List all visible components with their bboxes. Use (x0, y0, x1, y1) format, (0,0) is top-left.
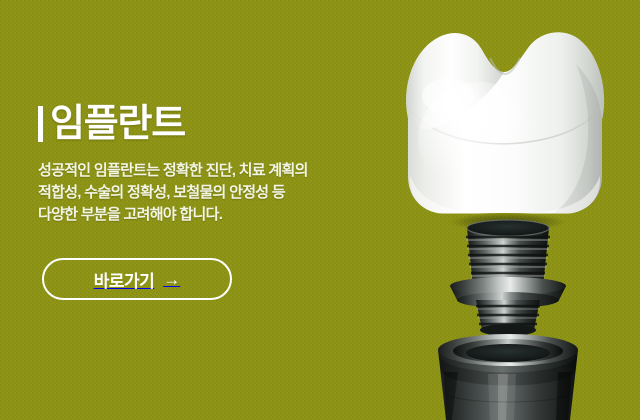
banner-copy: 임플란트 성공적인 임플란트는 정확한 진단, 치료 계획의 적합성, 수술의 … (38, 100, 368, 226)
description-line-2: 적합성, 수술의 정확성, 보철물의 안정성 등 (38, 182, 368, 204)
title-text: 임플란트 (50, 102, 185, 146)
description-line-1: 성공적인 임플란트는 정확한 진단, 치료 계획의 (38, 160, 368, 182)
implant-promo-banner: 임플란트 성공적인 임플란트는 정확한 진단, 치료 계획의 적합성, 수술의 … (0, 0, 640, 420)
title-accent-bar (38, 106, 43, 142)
go-to-button-label: 바로가기 (94, 267, 155, 292)
implant-fixture-part (438, 334, 578, 420)
page-title: 임플란트 (38, 100, 368, 148)
description-text: 성공적인 임플란트는 정확한 진단, 치료 계획의 적합성, 수술의 정확성, … (38, 160, 368, 226)
arrow-right-icon: → (163, 271, 180, 288)
go-to-button[interactable]: 바로가기 → (42, 258, 232, 300)
description-line-3: 다양한 부분을 고려해야 합니다. (38, 204, 368, 226)
implant-abutment-part (450, 220, 566, 336)
implant-crown-part (406, 32, 604, 214)
dental-implant-illustration (340, 0, 640, 420)
